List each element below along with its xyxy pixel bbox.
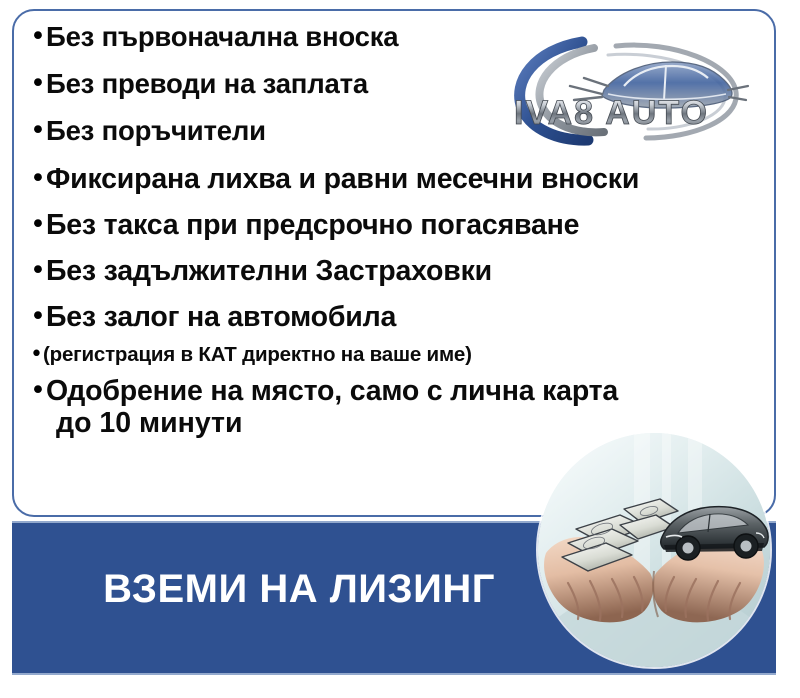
- bullet-icon: •: [30, 69, 46, 99]
- bullet-icon: •: [30, 22, 46, 52]
- logo-wordmark-text: IVA8 AUTO: [514, 94, 709, 132]
- bullet-icon: •: [30, 256, 46, 286]
- list-item: • Одобрение на място, само с лична карта: [30, 376, 770, 406]
- leasing-advertisement-poster: • Без първоначална вноска • Без преводи …: [0, 0, 800, 698]
- benefit-note-text: (регистрация в КАТ директно на ваше име): [43, 343, 770, 367]
- benefit-text: Фиксирана лихва и равни месечни вноски: [46, 164, 770, 194]
- list-item: • Без такса при предсрочно погасяване: [30, 210, 770, 240]
- bullet-icon: •: [30, 210, 46, 240]
- bullet-icon: •: [30, 164, 46, 194]
- list-item: • Без задължителни Застраховки: [30, 256, 770, 286]
- cta-banner-title: ВЗЕМИ НА ЛИЗИНГ: [64, 567, 534, 611]
- benefit-text: Без задължителни Застраховки: [46, 256, 770, 286]
- bullet-icon: •: [30, 343, 43, 367]
- list-item: • Фиксирана лихва и равни месечни вноски: [30, 164, 770, 194]
- list-item: • (регистрация в КАТ директно на ваше им…: [30, 343, 770, 367]
- benefit-text: Без залог на автомобила: [46, 302, 770, 332]
- bullet-icon: •: [30, 376, 46, 406]
- benefit-text: Одобрение на място, само с лична карта: [46, 376, 770, 406]
- benefit-text: Без такса при предсрочно погасяване: [46, 210, 770, 240]
- iva8-auto-logo: IVA8 AUTO: [496, 28, 756, 146]
- list-item: • Без залог на автомобила: [30, 302, 770, 332]
- hands-money-car-photo: [538, 433, 770, 667]
- bullet-icon: •: [30, 302, 46, 332]
- bullet-icon: •: [30, 116, 46, 146]
